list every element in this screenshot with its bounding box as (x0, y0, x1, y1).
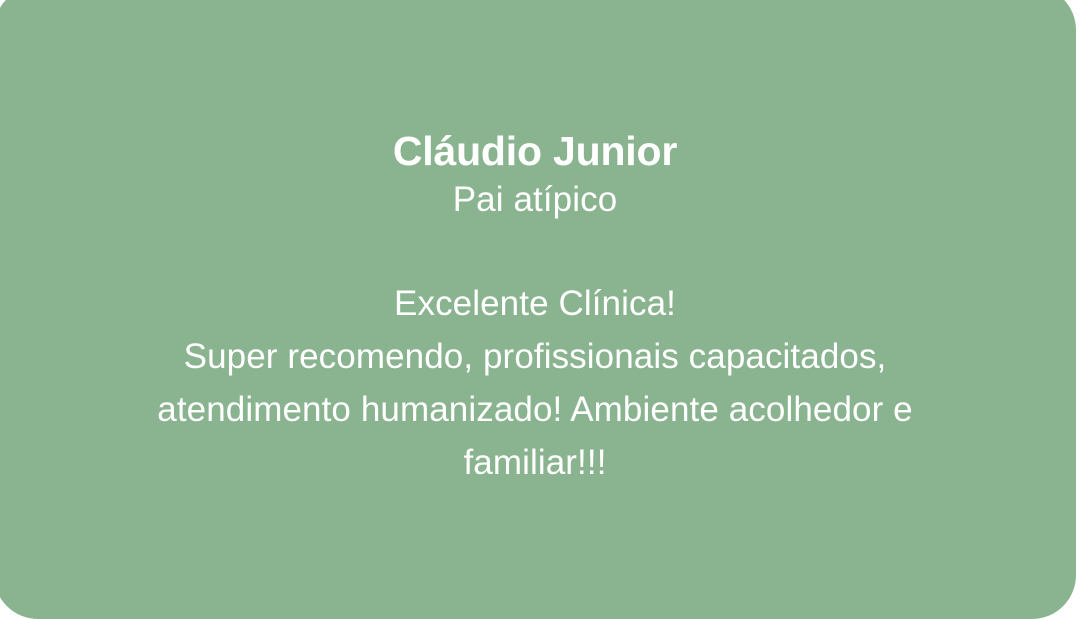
author-block: Cláudio Junior Pai atípico (0, 126, 1076, 224)
author-name: Cláudio Junior (0, 126, 1076, 176)
testimonial-line: Excelente Clínica! (30, 277, 1040, 330)
testimonial-line: familiar!!! (30, 436, 1040, 489)
author-role: Pai atípico (0, 176, 1076, 224)
testimonial-line: Super recomendo, profissionais capacitad… (30, 330, 1040, 383)
testimonial-card: Cláudio Junior Pai atípico Excelente Clí… (0, 0, 1076, 619)
testimonial-text: Excelente Clínica! Super recomendo, prof… (30, 277, 1040, 489)
testimonial-line: atendimento humanizado! Ambiente acolhed… (30, 383, 1040, 436)
